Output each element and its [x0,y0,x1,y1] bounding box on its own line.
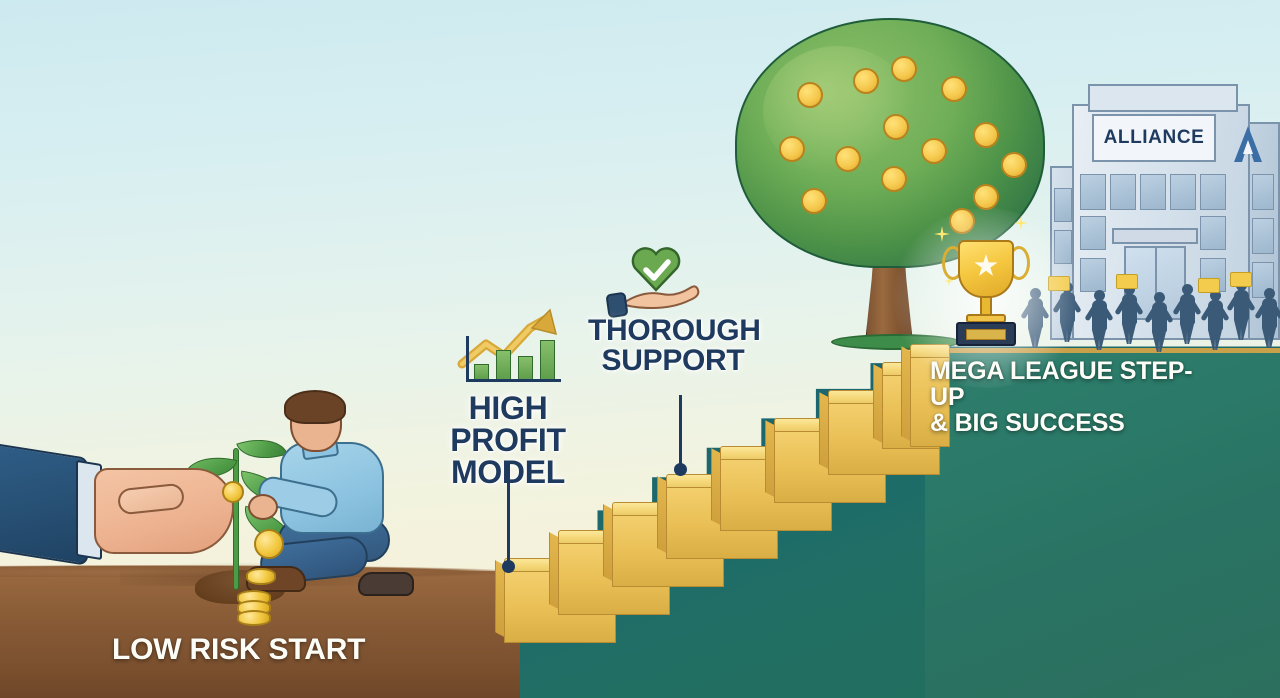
suit-sleeve [0,442,88,566]
tree-fruit [853,68,879,94]
callout-thorough-support: THOROUGH SUPPORT [588,316,758,376]
tree-fruit [779,136,805,162]
kneeling-man [250,390,430,620]
callout-label-line1: HIGH PROFIT [408,392,608,456]
tree-fruit [973,184,999,210]
tree-fruit [883,114,909,140]
letter-a-logo-icon [1228,122,1268,166]
tree-fruit [941,76,967,102]
tree-fruit [801,188,827,214]
building-window [1200,216,1226,250]
tree-fruit [835,146,861,172]
callout-mega-league-success: MEGA LEAGUE STEP-UP & BIG SUCCESS [930,358,1210,436]
building-sign-text: ALLIANCE [1104,127,1205,149]
gold-coin [222,481,244,503]
infographic-canvas: ALLIANCE [0,0,1280,698]
chart-axis [466,336,469,382]
gold-coin [254,529,284,559]
tree-fruit [797,82,823,108]
tree-fruit [1001,152,1027,178]
building-roof-cap [1088,84,1238,112]
callout-label-line1: THOROUGH [588,316,758,346]
building-awning [1112,228,1198,244]
callout-label-line2: SUPPORT [588,346,758,376]
open-palm [94,468,234,554]
gold-coin [246,568,276,585]
chart-bar [496,350,511,380]
building-window [1054,188,1072,222]
hand-holding-heart-check-icon [604,242,704,322]
man-shoe [358,572,414,596]
tree-fruit [881,166,907,192]
chart-bar [540,340,555,380]
callout-low-risk-start: LOW RISK START [112,634,365,665]
building-window [1140,174,1166,210]
building-window [1170,174,1196,210]
man-hair [284,390,346,424]
bar-chart-growth-icon [452,308,564,386]
building-window [1252,174,1274,210]
callout-pointer-high-profit [507,462,510,568]
trophy-plate [966,329,1006,340]
tree-fruit [973,122,999,148]
gold-coin-stack [237,610,271,626]
building-signboard: ALLIANCE [1092,114,1216,162]
trophy-icon [938,232,1034,350]
building-window [1252,218,1274,254]
hero-label-line1: MEGA LEAGUE STEP-UP [930,358,1210,410]
tree-fruit [891,56,917,82]
tree-fruit [921,138,947,164]
trophy-stem [980,296,992,316]
chart-bar [474,364,489,380]
callout-pointer-thorough-support [679,395,682,471]
giving-hand [0,440,238,570]
chart-axis [466,379,561,382]
hero-label-line2: & BIG SUCCESS [930,410,1210,436]
chart-bar [518,356,533,380]
building-window [1080,174,1106,210]
building-window [1200,174,1226,210]
man-hand [248,494,278,520]
building-window [1110,174,1136,210]
building-window [1080,216,1106,250]
